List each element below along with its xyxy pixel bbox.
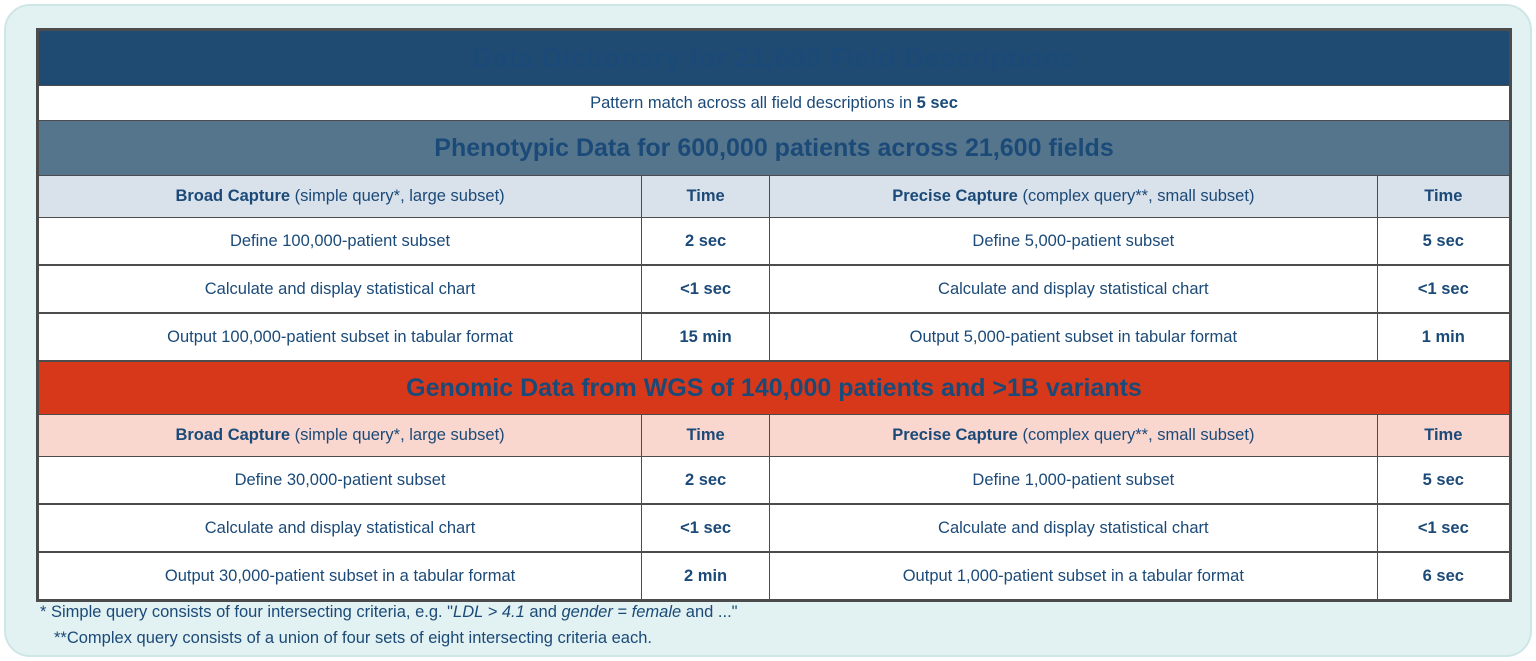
subtitle-row: Pattern match across all field descripti… <box>39 86 1510 121</box>
header-broad-capture-label: Broad Capture <box>175 426 290 444</box>
header-time-left-phenotypic: Time <box>642 176 770 218</box>
phenotypic-section-header: Phenotypic Data for 600,000 patients acr… <box>39 121 1510 176</box>
footnote-and-1: and <box>525 603 562 621</box>
genomic-band-row: Genomic Data from WGS of 140,000 patient… <box>39 361 1510 415</box>
header-precise-capture-note: (complex query**, small subset) <box>1018 426 1255 444</box>
cell-precise-task: Output 1,000-patient subset in a tabular… <box>770 552 1378 600</box>
table-row: Output 30,000-patient subset in a tabula… <box>39 552 1510 600</box>
title-row: Data Dictionary for 21,600 Field Descrip… <box>39 31 1510 86</box>
footnote-equals: = <box>613 603 632 621</box>
footnotes: * Simple query consists of four intersec… <box>40 600 1240 651</box>
header-broad-capture-note: (simple query*, large subset) <box>290 426 505 444</box>
header-broad-capture-note: (simple query*, large subset) <box>290 187 505 205</box>
cell-broad-time: <1 sec <box>642 504 770 552</box>
cell-precise-time: 5 sec <box>1377 457 1509 505</box>
cell-broad-time: 2 min <box>642 552 770 600</box>
header-precise-capture-label: Precise Capture <box>892 426 1018 444</box>
cell-precise-time: 6 sec <box>1377 552 1509 600</box>
cell-broad-time: 2 sec <box>642 218 770 266</box>
cell-precise-time: <1 sec <box>1377 265 1509 313</box>
header-precise-capture-genomic: Precise Capture (complex query**, small … <box>770 415 1378 457</box>
genomic-column-header-row: Broad Capture (simple query*, large subs… <box>39 415 1510 457</box>
comparison-table: Data Dictionary for 21,600 Field Descrip… <box>38 30 1510 600</box>
table-row: Define 30,000-patient subset 2 sec Defin… <box>39 457 1510 505</box>
header-precise-capture-note: (complex query**, small subset) <box>1018 187 1255 205</box>
table-row: Calculate and display statistical chart … <box>39 504 1510 552</box>
footnote-ldl-expression: LDL > 4.1 <box>453 603 525 621</box>
genomic-section-header: Genomic Data from WGS of 140,000 patient… <box>39 361 1510 415</box>
cell-broad-task: Define 30,000-patient subset <box>39 457 642 505</box>
cell-broad-task: Calculate and display statistical chart <box>39 504 642 552</box>
cell-precise-task: Calculate and display statistical chart <box>770 265 1378 313</box>
table-row: Calculate and display statistical chart … <box>39 265 1510 313</box>
footnote-simple-query-text: * Simple query consists of four intersec… <box>40 603 453 621</box>
subtitle: Pattern match across all field descripti… <box>39 86 1510 121</box>
subtitle-prefix: Pattern match across all field descripti… <box>590 94 916 112</box>
subtitle-value: 5 sec <box>917 94 958 112</box>
cell-precise-task: Define 1,000-patient subset <box>770 457 1378 505</box>
footnote-and-2: and ..." <box>681 603 737 621</box>
cell-broad-time: 2 sec <box>642 457 770 505</box>
cell-precise-task: Define 5,000-patient subset <box>770 218 1378 266</box>
cell-precise-task: Output 5,000-patient subset in tabular f… <box>770 313 1378 361</box>
cell-precise-time: 1 min <box>1377 313 1509 361</box>
cell-broad-task: Calculate and display statistical chart <box>39 265 642 313</box>
page-title: Data Dictionary for 21,600 Field Descrip… <box>39 31 1510 86</box>
cell-precise-time: 5 sec <box>1377 218 1509 266</box>
table-row: Define 100,000-patient subset 2 sec Defi… <box>39 218 1510 266</box>
cell-broad-task: Output 100,000-patient subset in tabular… <box>39 313 642 361</box>
cell-broad-time: <1 sec <box>642 265 770 313</box>
phenotypic-band-row: Phenotypic Data for 600,000 patients acr… <box>39 121 1510 176</box>
cell-broad-time: 15 min <box>642 313 770 361</box>
cell-broad-task: Output 30,000-patient subset in a tabula… <box>39 552 642 600</box>
outer-panel: Data Dictionary for 21,600 Field Descrip… <box>4 4 1532 657</box>
table-row: Output 100,000-patient subset in tabular… <box>39 313 1510 361</box>
cell-broad-task: Define 100,000-patient subset <box>39 218 642 266</box>
footnote-simple-query: * Simple query consists of four intersec… <box>40 600 1240 626</box>
cell-precise-task: Calculate and display statistical chart <box>770 504 1378 552</box>
comparison-table-container: Data Dictionary for 21,600 Field Descrip… <box>36 28 1512 602</box>
header-precise-capture-label: Precise Capture <box>892 187 1018 205</box>
header-broad-capture-label: Broad Capture <box>175 187 290 205</box>
footnote-gender-term: gender <box>561 603 612 621</box>
header-precise-capture-phenotypic: Precise Capture (complex query**, small … <box>770 176 1378 218</box>
footnote-complex-query: **Complex query consists of a union of f… <box>40 626 1240 652</box>
header-broad-capture-genomic: Broad Capture (simple query*, large subs… <box>39 415 642 457</box>
cell-precise-time: <1 sec <box>1377 504 1509 552</box>
header-time-right-phenotypic: Time <box>1377 176 1509 218</box>
footnote-female-term: female <box>632 603 682 621</box>
header-broad-capture-phenotypic: Broad Capture (simple query*, large subs… <box>39 176 642 218</box>
phenotypic-column-header-row: Broad Capture (simple query*, large subs… <box>39 176 1510 218</box>
header-time-right-genomic: Time <box>1377 415 1509 457</box>
header-time-left-genomic: Time <box>642 415 770 457</box>
